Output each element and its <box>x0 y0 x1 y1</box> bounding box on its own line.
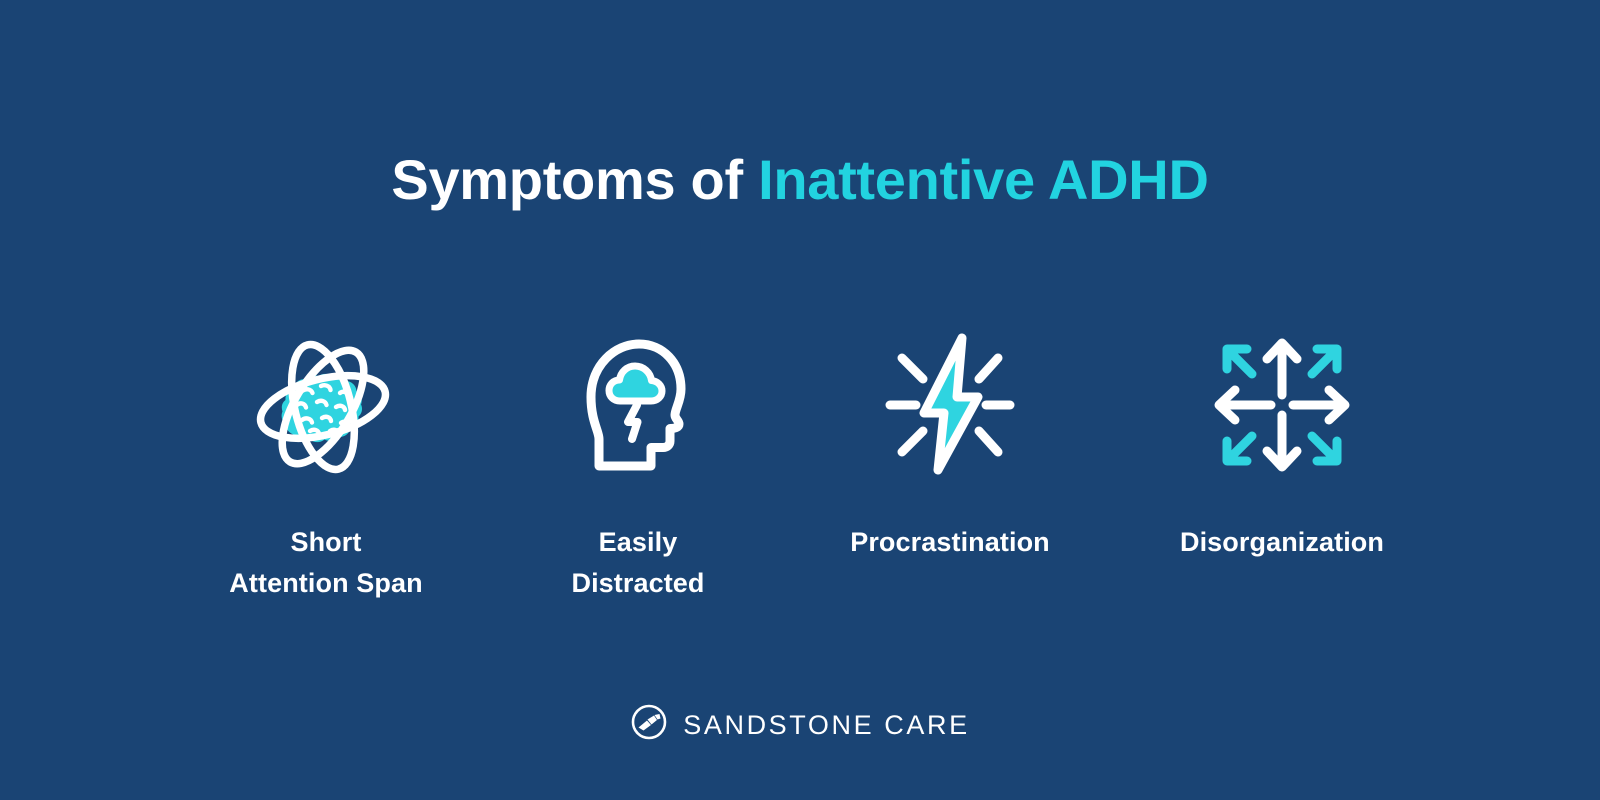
lightning-bolt-icon <box>875 330 1025 480</box>
symptom-card-label-line1: Easily <box>571 522 704 563</box>
symptom-card-disorganization: Disorganization <box>1126 330 1438 563</box>
symptom-card-procrastination: Procrastination <box>794 330 1106 563</box>
symptom-card-short-attention-span: Short Attention Span <box>170 330 482 604</box>
symptom-card-label-line1: Disorganization <box>1180 522 1384 563</box>
footer-brand: SANDSTONE CARE <box>0 703 1600 746</box>
page-title: Symptoms of Inattentive ADHD <box>0 148 1600 212</box>
sandstone-dune-circle-icon <box>630 703 668 746</box>
symptom-card-easily-distracted: Easily Distracted <box>482 330 794 604</box>
symptom-card-label-line1: Procrastination <box>850 522 1050 563</box>
symptom-card-label: Short Attention Span <box>229 522 422 604</box>
symptom-card-label-line1: Short <box>229 522 422 563</box>
scattered-arrows-icon <box>1207 330 1357 480</box>
brain-atom-icon <box>251 330 401 480</box>
page-title-lead: Symptoms of <box>391 148 758 211</box>
symptom-card-label-line2: Attention Span <box>229 563 422 604</box>
head-storm-cloud-icon <box>563 330 713 480</box>
page-title-highlight: Inattentive ADHD <box>758 148 1209 211</box>
symptom-card-label-line2: Distracted <box>571 563 704 604</box>
infographic-canvas: Symptoms of Inattentive ADHD <box>0 0 1600 800</box>
symptom-card-label: Procrastination <box>850 522 1050 563</box>
symptom-card-label: Easily Distracted <box>571 522 704 604</box>
brand-wordmark: SANDSTONE CARE <box>683 710 969 740</box>
symptom-card-row: Short Attention Span Easily Distracted <box>0 330 1600 604</box>
symptom-card-label: Disorganization <box>1180 522 1384 563</box>
